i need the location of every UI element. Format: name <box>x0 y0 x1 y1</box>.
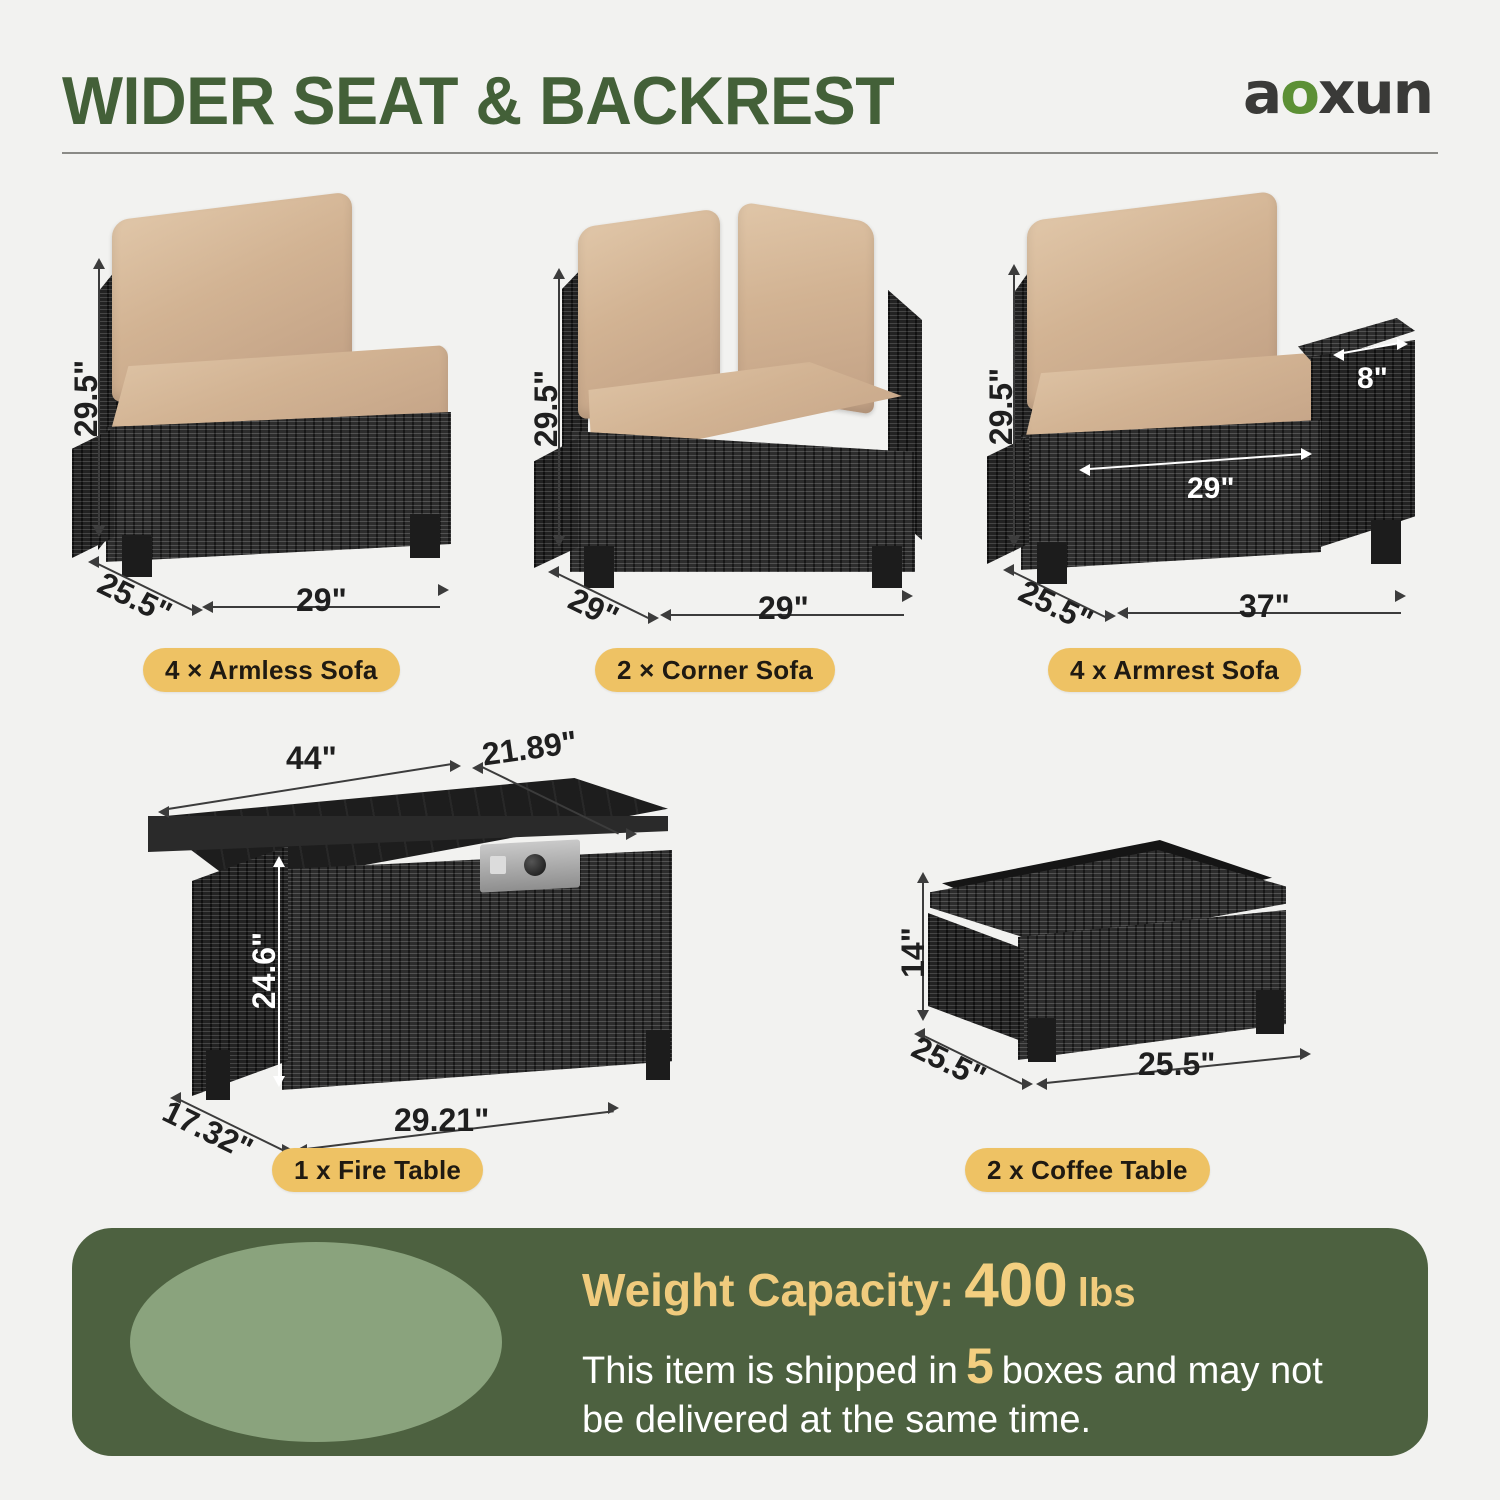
armless-dim-depth-arrow-start <box>88 556 99 568</box>
armrest-dim-seatwidth-arrow-left <box>1079 464 1090 476</box>
fire-dim-topdepth-arrow-right <box>626 828 637 840</box>
coffee-dim-depth-label: 25.5" <box>906 1029 992 1096</box>
label-armless-sofa: 4 × Armless Sofa <box>143 648 400 692</box>
armrest-dim-width-label: 37" <box>1239 588 1290 625</box>
armless-dim-width-arrow-right <box>438 584 449 596</box>
product-armrest-sofa: 29.5" 25.5" 37" 29" 8" <box>975 190 1445 620</box>
corner-sofa-leg-right <box>872 546 902 588</box>
banner-text-block: Weight Capacity: 400 lbs This item is sh… <box>582 1250 1412 1444</box>
banner-oval-background <box>130 1242 502 1442</box>
armless-dim-height-arrow-top <box>93 258 105 269</box>
corner-dim-height-arrow-top <box>553 268 565 279</box>
armless-dim-width-arrow-left <box>202 601 213 613</box>
armless-sofa-base-side <box>72 428 114 558</box>
weight-capacity-unit: lbs <box>1078 1271 1136 1316</box>
fire-table-body-front <box>282 850 672 1090</box>
fire-table-ignition-button <box>490 856 506 874</box>
weight-capacity-label: Weight Capacity: <box>582 1263 954 1317</box>
coffee-dim-height-arrow-bottom <box>917 1010 929 1021</box>
armless-dim-height-arrow-bottom <box>93 526 105 537</box>
corner-dim-width-arrow-left <box>660 609 671 621</box>
coffee-dim-width-arrow-right <box>1300 1048 1311 1060</box>
coffee-table-leg-right <box>1256 990 1284 1034</box>
shipping-suffix: boxes and may not <box>1002 1350 1323 1392</box>
coffee-dim-width-arrow-left <box>1036 1078 1047 1090</box>
shipping-prefix: This item is shipped in <box>582 1350 958 1392</box>
armrest-sofa-leg-right <box>1371 520 1401 564</box>
coffee-dim-depth-arrow-right <box>1022 1078 1033 1090</box>
product-coffee-table: 14" 25.5" 25.5" <box>870 830 1340 1130</box>
product-armless-sofa: 29.5" 25.5" 29" <box>60 190 500 620</box>
page-header: WIDER SEAT & BACKREST aoxun <box>0 0 1500 170</box>
armrest-dim-height-arrow-top <box>1008 264 1020 275</box>
fire-table-control-knob <box>524 854 546 876</box>
fire-table-leg-left <box>206 1050 230 1100</box>
product-fire-table: 44" 21.89" 24.6" 17.32" 29.21" <box>130 730 750 1130</box>
shipping-box-count: 5 <box>958 1338 1002 1394</box>
armless-sofa-leg-right <box>410 514 440 558</box>
brand-logo: aoxun <box>1243 62 1432 124</box>
fire-dim-topdepth-label: 21.89" <box>480 724 579 774</box>
armrest-dim-width-arrow-right <box>1395 590 1406 602</box>
logo-text-after: xun <box>1318 59 1432 127</box>
corner-dim-width-label: 29" <box>758 590 809 627</box>
armless-dim-height-label: 29.5" <box>68 360 105 437</box>
armrest-dim-depth-arrow-end <box>1105 610 1116 622</box>
shipping-info-line: This item is shipped in5boxes and may no… <box>582 1335 1412 1444</box>
corner-dim-depth-arrow-start <box>548 566 559 578</box>
fire-dim-basewidth-label: 29.21" <box>394 1102 489 1139</box>
weight-capacity-line: Weight Capacity: 400 lbs <box>582 1250 1412 1321</box>
shipping-banner: Weight Capacity: 400 lbs This item is sh… <box>72 1228 1428 1456</box>
logo-text-before: a <box>1243 59 1280 127</box>
fire-dim-height-arrow-top <box>273 856 285 867</box>
armless-sofa-base-front <box>106 412 451 562</box>
logo-accent-letter: o <box>1280 59 1318 127</box>
armrest-dim-armwidth-arrow-right <box>1397 338 1408 350</box>
corner-dim-depth-arrow-end <box>648 612 659 624</box>
weight-capacity-value: 400 <box>964 1250 1067 1321</box>
shipping-line-2: be delivered at the same time. <box>582 1399 1091 1441</box>
armrest-dim-depth-arrow-start <box>1003 564 1014 576</box>
armrest-dim-height-label: 29.5" <box>983 368 1020 445</box>
label-corner-sofa: 2 × Corner Sofa <box>595 648 835 692</box>
fire-dim-basewidth-arrow-right <box>608 1102 619 1114</box>
label-coffee-table: 2 x Coffee Table <box>965 1148 1210 1192</box>
label-armrest-sofa: 4 x Armrest Sofa <box>1048 648 1301 692</box>
armrest-sofa-leg-left <box>1037 542 1067 584</box>
armless-sofa-leg-left <box>122 535 152 577</box>
corner-sofa-base-front <box>570 422 915 572</box>
corner-dim-height-label: 29.5" <box>528 370 565 447</box>
fire-dim-height-label: 24.6" <box>246 932 283 1009</box>
header-divider <box>62 152 1438 154</box>
fire-dim-basedepth-label: 17.32" <box>157 1093 259 1168</box>
armrest-dim-seatwidth-label: 29" <box>1187 472 1235 506</box>
fire-dim-topwidth-arrow-right <box>450 760 461 772</box>
fire-dim-height-arrow-bottom <box>273 1076 285 1087</box>
armrest-dim-height-arrow-bottom <box>1008 536 1020 547</box>
corner-sofa-leg-left <box>584 546 614 588</box>
coffee-dim-height-label: 14" <box>895 927 932 978</box>
logo-text: aoxun <box>1243 59 1432 127</box>
fire-dim-topwidth-label: 44" <box>286 740 337 777</box>
armrest-dim-seatwidth-arrow-right <box>1301 448 1312 460</box>
coffee-table-leg-left <box>1028 1018 1056 1062</box>
coffee-dim-height-arrow-top <box>917 872 929 883</box>
fire-table-leg-right <box>646 1030 670 1080</box>
armrest-dim-armwidth-arrow-left <box>1333 349 1344 361</box>
corner-dim-width-arrow-right <box>902 590 913 602</box>
corner-dim-height-arrow-bottom <box>553 536 565 547</box>
fire-dim-topdepth-arrow-left <box>472 762 483 774</box>
page-title: WIDER SEAT & BACKREST <box>62 62 894 140</box>
corner-sofa-base-side <box>534 438 578 568</box>
armrest-dim-armwidth-label: 8" <box>1357 362 1388 396</box>
armless-dim-width-label: 29" <box>296 582 347 619</box>
corner-dim-depth-label: 29" <box>562 581 624 637</box>
fire-dim-topwidth-arrow-left <box>158 806 169 818</box>
armrest-dim-width-arrow-left <box>1117 607 1128 619</box>
coffee-dim-width-label: 25.5" <box>1138 1046 1215 1083</box>
label-fire-table: 1 x Fire Table <box>272 1148 483 1192</box>
product-corner-sofa: 29.5" 29" 29" <box>520 190 950 620</box>
